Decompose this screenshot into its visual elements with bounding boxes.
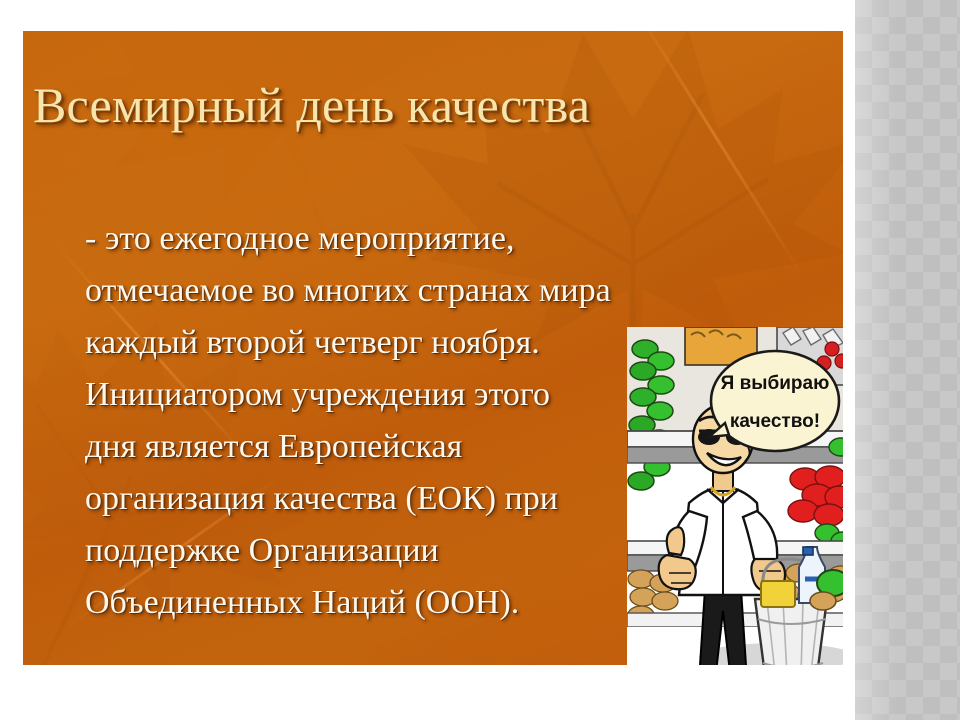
body-line: Инициатором учреждения этого xyxy=(85,369,630,421)
presentation-slide: Всемирный день качества - это ежегодное … xyxy=(23,31,843,665)
body-line: каждый второй четверг ноября. xyxy=(85,317,630,369)
body-line: - это ежегодное мероприятие, xyxy=(85,213,630,265)
speech-bubble-line-1: Я выбираю xyxy=(721,373,830,394)
slide-title: Всемирный день качества xyxy=(33,79,673,132)
decorative-side-panel xyxy=(855,0,960,720)
quality-cartoon-illustration: Я выбираю качество! xyxy=(627,327,843,665)
slide-body-text: - это ежегодное мероприятие, отмечаемое … xyxy=(85,213,630,629)
body-line: дня является Европейская xyxy=(85,421,630,473)
background-streak xyxy=(622,31,805,277)
body-line: отмечаемое во многих странах мира xyxy=(85,265,630,317)
body-line: поддержке Организации xyxy=(85,525,630,577)
speech-bubble-line-2: качество! xyxy=(730,411,820,432)
body-line: Объединенных Наций (ООН). xyxy=(85,577,630,629)
body-line: организация качества (ЕОК) при xyxy=(85,473,630,525)
